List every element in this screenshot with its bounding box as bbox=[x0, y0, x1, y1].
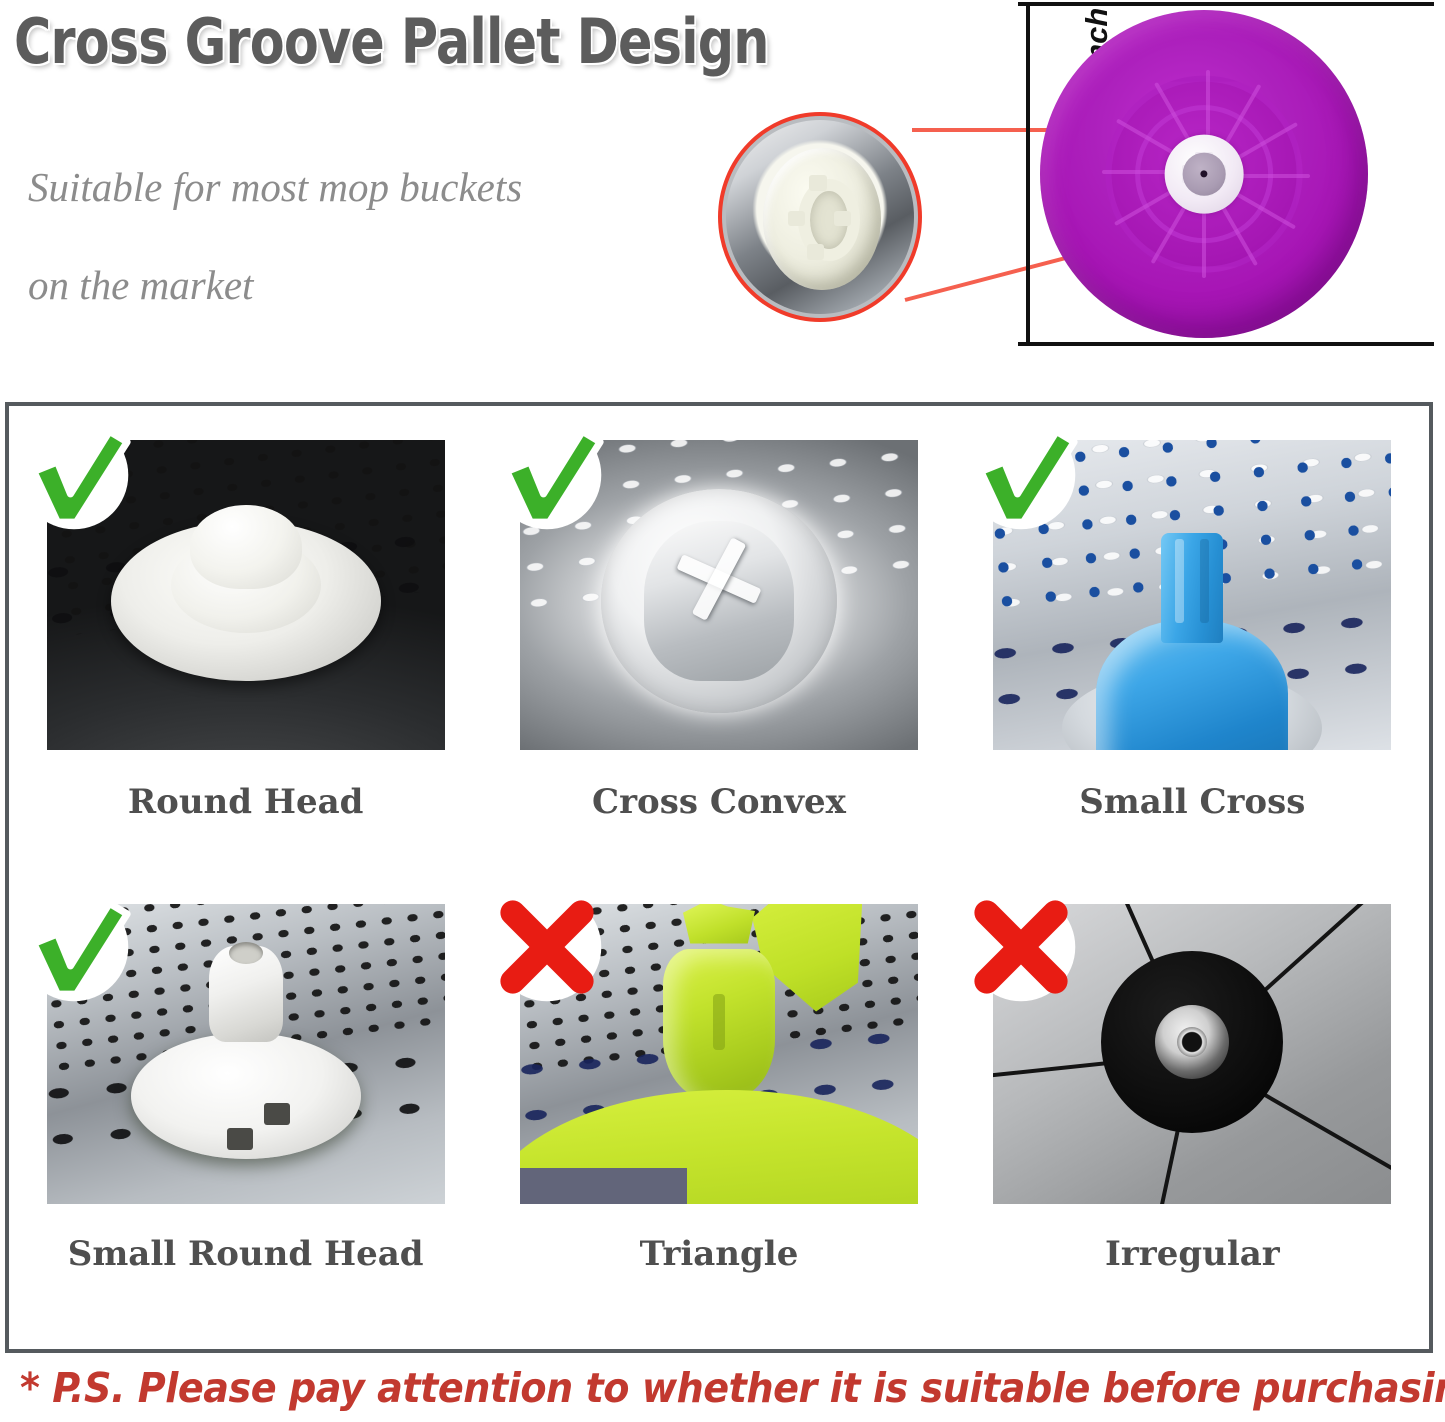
cell-label: Irregular bbox=[956, 1234, 1429, 1274]
red-cross-icon bbox=[962, 888, 1080, 1006]
green-check-icon bbox=[15, 416, 133, 534]
triangle-groove bbox=[713, 994, 725, 1050]
cell-label: Round Head bbox=[9, 782, 482, 822]
dimension-bracket-cap-top bbox=[1018, 2, 1036, 6]
hub-outer-graphic bbox=[763, 148, 881, 289]
spindle-base bbox=[111, 521, 381, 681]
dimension-rule-bottom bbox=[1022, 342, 1434, 346]
compat-cell-small-cross[interactable]: Small Cross bbox=[956, 406, 1429, 878]
compatibility-comparison-panel: Round Head bbox=[5, 402, 1433, 1353]
spindle-base-plate bbox=[131, 1033, 361, 1159]
spindle-triangle-stem bbox=[663, 949, 775, 1099]
hub-closeup-magnifier bbox=[718, 112, 922, 322]
fan-core-center bbox=[1177, 1027, 1207, 1057]
spindle-top-hole bbox=[229, 942, 263, 964]
purchase-warning-note: * P.S. Please pay attention to whether i… bbox=[20, 1362, 1341, 1414]
dimension-bracket-cap-bottom bbox=[1018, 342, 1036, 346]
hub-notch-north bbox=[809, 175, 827, 191]
spindle-collar bbox=[601, 489, 837, 713]
green-check-icon bbox=[15, 888, 133, 1006]
compat-cell-cross-convex[interactable]: Cross Convex bbox=[482, 406, 955, 878]
spindle-small-round-stem bbox=[209, 946, 283, 1042]
compat-cell-small-round-head[interactable]: Small Round Head bbox=[9, 878, 482, 1350]
plate-slot-b bbox=[227, 1128, 253, 1150]
page-title: Cross Groove Pallet Design bbox=[14, 4, 769, 80]
spindle-round-head bbox=[190, 505, 302, 589]
subtitle-line-2: on the market bbox=[28, 262, 253, 308]
compatibility-grid: Round Head bbox=[9, 406, 1429, 1349]
hub-notch-east bbox=[834, 211, 852, 227]
compat-cell-triangle[interactable]: Triangle bbox=[482, 878, 955, 1350]
green-check-icon bbox=[488, 416, 606, 534]
cross-fin-left bbox=[1175, 539, 1184, 623]
dimension-bracket-line bbox=[1026, 2, 1030, 346]
cell-label: Triangle bbox=[482, 1234, 955, 1274]
subtitle-line-1: Suitable for most mop buckets bbox=[28, 164, 522, 210]
spindle-triangle-tip bbox=[683, 904, 755, 944]
fan-core bbox=[1155, 1005, 1229, 1079]
dimension-bracket bbox=[1018, 2, 1036, 346]
cell-label: Small Cross bbox=[956, 782, 1429, 822]
compat-cell-round-head[interactable]: Round Head bbox=[9, 406, 482, 878]
cell-label: Small Round Head bbox=[9, 1234, 482, 1274]
plate-slot-a bbox=[264, 1103, 290, 1125]
cross-fin-right bbox=[1200, 539, 1209, 623]
green-check-icon bbox=[962, 416, 1080, 534]
cell-label: Cross Convex bbox=[482, 782, 955, 822]
fan-hub bbox=[1101, 951, 1283, 1133]
product-disc-image bbox=[1040, 10, 1368, 338]
bucket-dark-base bbox=[520, 1168, 687, 1204]
spindle-convex-cap bbox=[644, 521, 794, 681]
hub-notch-south bbox=[807, 244, 825, 260]
red-cross-icon bbox=[488, 888, 606, 1006]
compat-cell-irregular[interactable]: Irregular bbox=[956, 878, 1429, 1350]
hub-notch-west bbox=[788, 211, 806, 227]
spindle-small-cross-stem bbox=[1161, 533, 1223, 643]
header-section: Cross Groove Pallet Design Suitable for … bbox=[0, 0, 1445, 390]
